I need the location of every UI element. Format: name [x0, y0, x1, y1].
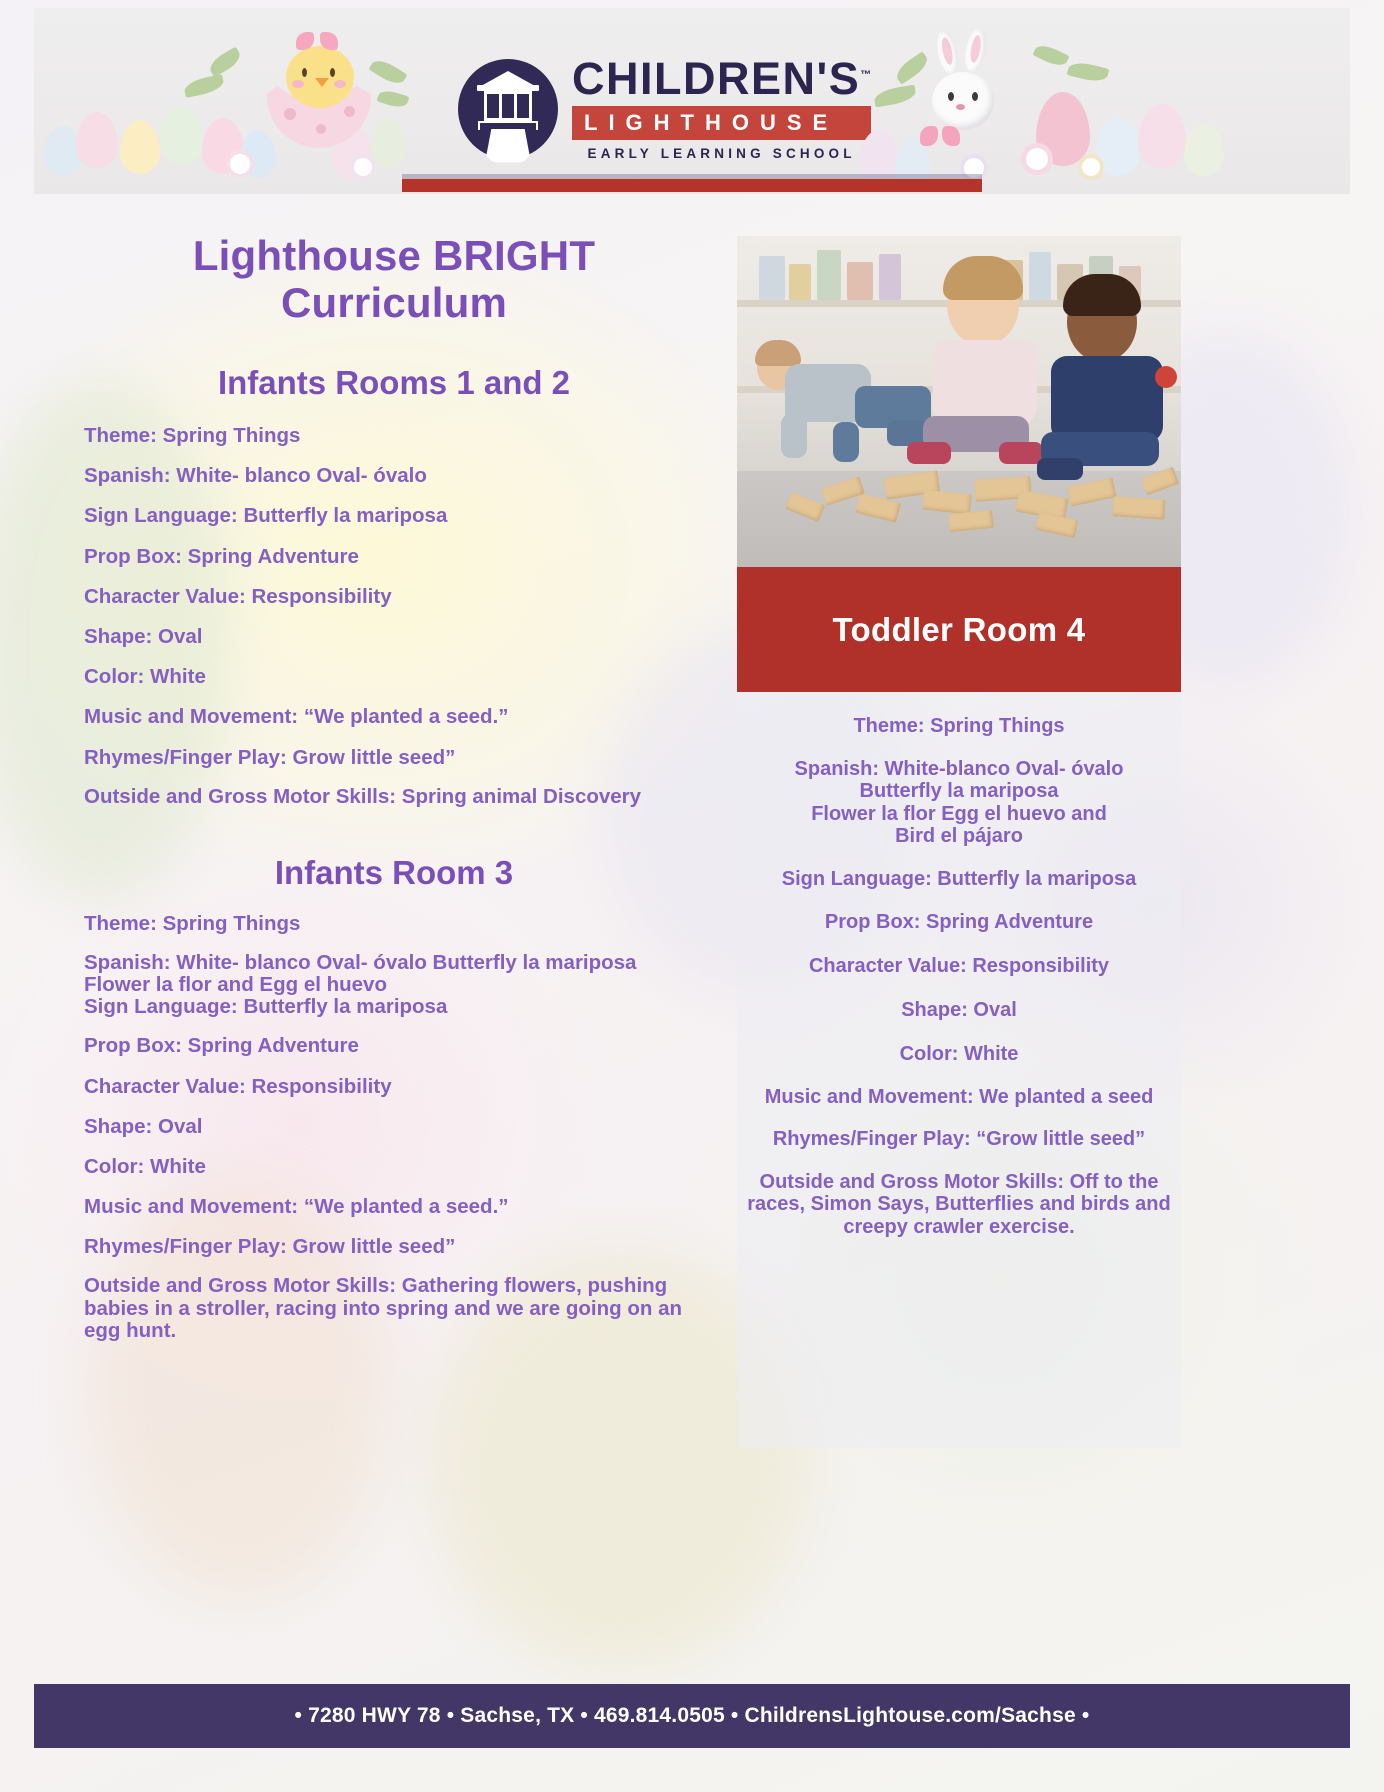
list-item: Spanish: White- blanco Oval- óvalo Butte…	[84, 952, 704, 1018]
lighthouse-icon	[458, 59, 558, 159]
list-item: Rhymes/Finger Play: “Grow little seed”	[745, 1128, 1173, 1150]
brand-sub-text: LIGHTHOUSE	[584, 112, 861, 134]
list-item: Theme: Spring Things	[84, 424, 704, 448]
list-item: Prop Box: Spring Adventure	[745, 910, 1173, 934]
page-title-line-2: Curriculum	[84, 279, 704, 326]
classroom-photo	[737, 236, 1181, 567]
bunny-ear-icon	[962, 27, 988, 74]
footer-contact-info: • 7280 HWY 78 • Sachse, TX • 469.814.050…	[295, 1704, 1090, 1728]
bunny-icon	[932, 72, 994, 130]
brand-name: CHILDREN'S™	[572, 56, 871, 101]
list-item: Theme: Spring Things	[745, 714, 1173, 738]
section-heading-infants-1-2: Infants Rooms 1 and 2	[84, 364, 704, 402]
list-item: Outside and Gross Motor Skills: Spring a…	[84, 786, 704, 808]
list-item: Character Value: Responsibility	[745, 954, 1173, 978]
page-title-line-1: Lighthouse BRIGHT	[84, 232, 704, 279]
list-item: Shape: Oval	[745, 998, 1173, 1022]
flyer-page: CHILDREN'S™ LIGHTHOUSE EARLY LEARNING SC…	[0, 0, 1384, 1792]
list-item: Color: White	[84, 1155, 704, 1179]
section-heading-infants-3: Infants Room 3	[84, 854, 704, 892]
list-item: Color: White	[745, 1042, 1173, 1066]
list-item: Character Value: Responsibility	[84, 585, 704, 609]
list-item: Music and Movement: We planted a seed	[745, 1086, 1173, 1108]
bow-icon	[296, 32, 340, 52]
list-item: Shape: Oval	[84, 1115, 704, 1139]
chick-icon	[286, 46, 354, 108]
panel-banner: Toddler Room 4	[737, 567, 1181, 692]
brand-sub-bar: LIGHTHOUSE	[572, 106, 871, 140]
brand-logo: CHILDREN'S™ LIGHTHOUSE EARLY LEARNING SC…	[458, 56, 871, 161]
bow-icon	[920, 126, 960, 148]
list-item: Outside and Gross Motor Skills: Gatherin…	[84, 1275, 704, 1341]
brand-name-text: CHILDREN'S	[572, 53, 860, 104]
list-item: Sign Language: Butterfly la mariposa	[745, 868, 1173, 890]
page-header: CHILDREN'S™ LIGHTHOUSE EARLY LEARNING SC…	[34, 8, 1350, 194]
list-item: Rhymes/Finger Play: Grow little seed”	[84, 1235, 704, 1259]
list-item: Spanish: White- blanco Oval- óvalo	[84, 464, 704, 488]
list-item: Spanish: White-blanco Oval- óvalo Butter…	[745, 758, 1173, 848]
header-rule	[402, 179, 982, 192]
panel-title: Toddler Room 4	[833, 611, 1086, 649]
list-item: Color: White	[84, 665, 704, 689]
bunny-ear-icon	[934, 29, 962, 76]
brand-tagline: EARLY LEARNING SCHOOL	[572, 146, 871, 161]
panel-content: Theme: Spring Things Spanish: White-blan…	[737, 692, 1181, 1258]
list-item: Music and Movement: “We planted a seed.”	[84, 705, 704, 729]
page-title: Lighthouse BRIGHT Curriculum	[84, 232, 704, 326]
list-item: Outside and Gross Motor Skills: Off to t…	[745, 1171, 1173, 1238]
list-item: Prop Box: Spring Adventure	[84, 545, 704, 569]
page-footer: • 7280 HWY 78 • Sachse, TX • 469.814.050…	[34, 1684, 1350, 1748]
list-item: Rhymes/Finger Play: Grow little seed”	[84, 746, 704, 770]
list-item: Character Value: Responsibility	[84, 1075, 704, 1099]
trademark-symbol: ™	[860, 69, 871, 81]
list-item: Theme: Spring Things	[84, 912, 704, 936]
left-content-column: Lighthouse BRIGHT Curriculum Infants Roo…	[84, 232, 704, 1358]
toddler-room-panel: Toddler Room 4 Theme: Spring Things Span…	[737, 236, 1181, 1448]
list-item: Sign Language: Butterfly la mariposa	[84, 504, 704, 528]
list-item: Music and Movement: “We planted a seed.”	[84, 1195, 704, 1219]
list-item: Prop Box: Spring Adventure	[84, 1034, 704, 1058]
list-item: Shape: Oval	[84, 625, 704, 649]
